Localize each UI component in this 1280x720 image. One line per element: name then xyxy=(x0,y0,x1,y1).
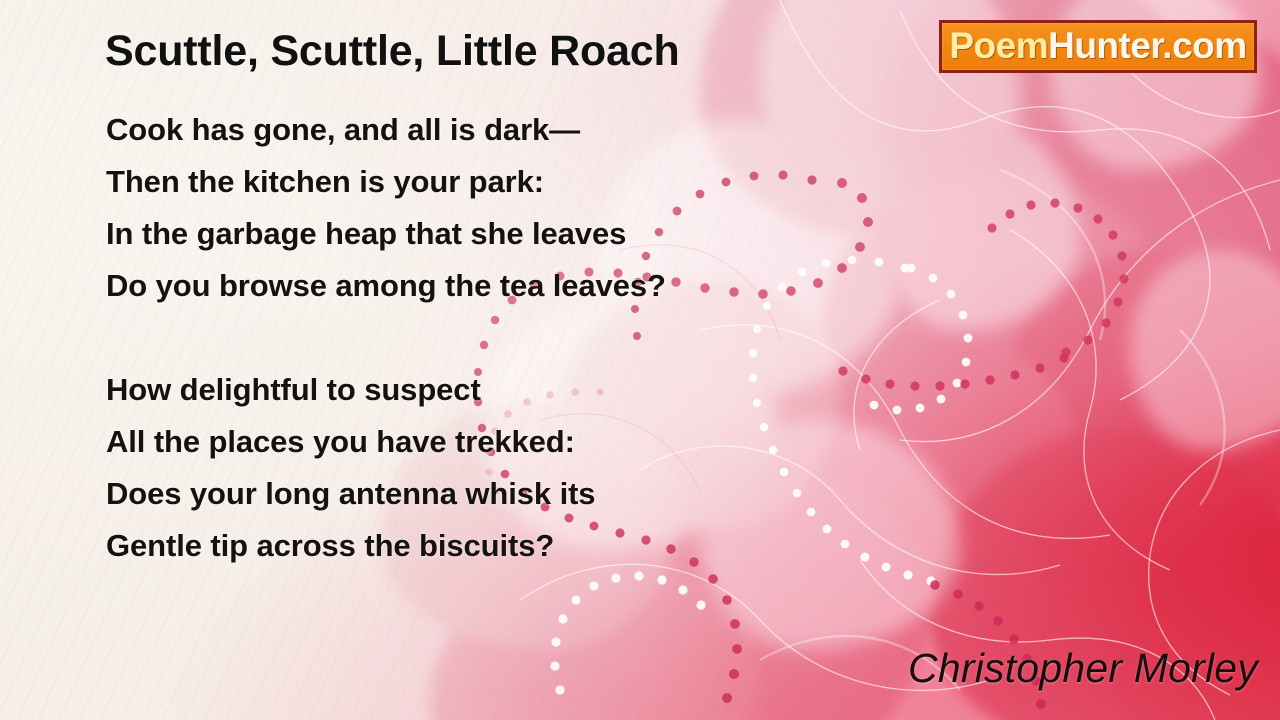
poem-image-card: Scuttle, Scuttle, Little Roach Cook has … xyxy=(0,0,1280,720)
poem-stanza: How delightful to suspect All the places… xyxy=(106,364,866,572)
poem-stanza: Cook has gone, and all is dark— Then the… xyxy=(106,104,866,312)
page-title: Scuttle, Scuttle, Little Roach xyxy=(105,27,680,76)
poem-line: In the garbage heap that she leaves xyxy=(106,208,866,260)
poem-line: All the places you have trekked: xyxy=(106,416,866,468)
poem-line: How delightful to suspect xyxy=(106,364,866,416)
logo-text: PoemHunter.com xyxy=(949,27,1246,64)
poemhunter-logo[interactable]: PoemHunter.com xyxy=(939,20,1257,73)
poem-line: Do you browse among the tea leaves? xyxy=(106,260,866,312)
poem-line: Cook has gone, and all is dark— xyxy=(106,104,866,156)
logo-text-poem: Poem xyxy=(949,25,1048,66)
logo-text-hunter: Hunter.com xyxy=(1048,25,1247,66)
poem-line: Does your long antenna whisk its xyxy=(106,468,866,520)
poem-text: Cook has gone, and all is dark— Then the… xyxy=(106,104,866,572)
poem-line: Then the kitchen is your park: xyxy=(106,156,866,208)
poem-line: Gentle tip across the biscuits? xyxy=(106,520,866,572)
poet-name: Christopher Morley xyxy=(908,645,1258,692)
